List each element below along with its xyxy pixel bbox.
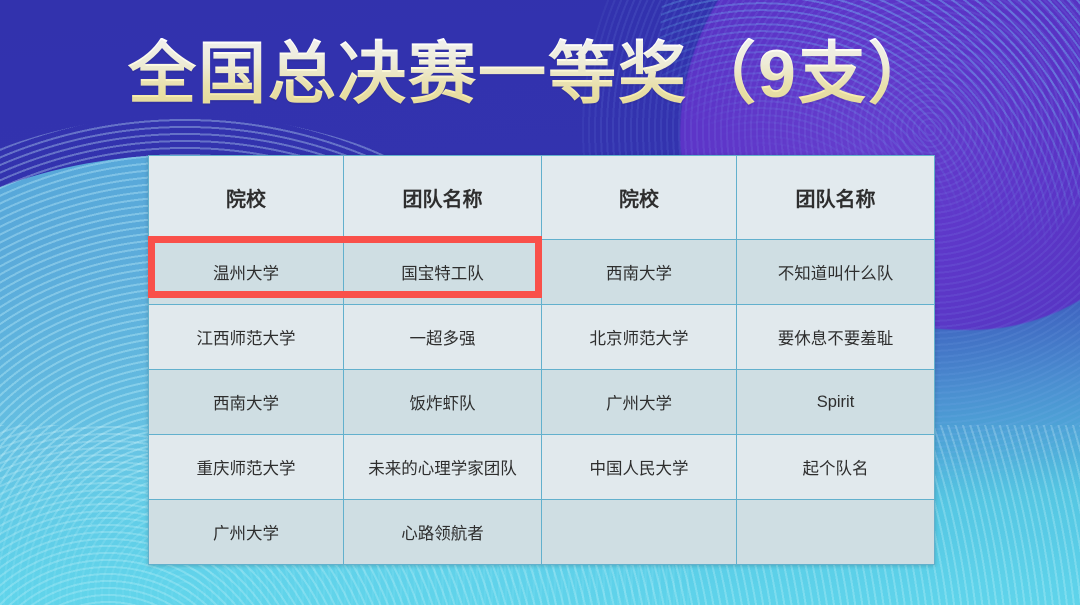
column-header-team-1: 团队名称 [344, 156, 542, 240]
cell-team-2: 不知道叫什么队 [737, 240, 935, 305]
cell-school-1: 西南大学 [149, 370, 344, 435]
cell-team-2: 要休息不要羞耻 [737, 305, 935, 370]
page-title: 全国总决赛一等奖（9支） [128, 38, 938, 111]
cell-school-2: 西南大学 [542, 240, 737, 305]
cell-school-2: 中国人民大学 [542, 435, 737, 500]
cell-school-2: 北京师范大学 [542, 305, 737, 370]
column-header-team-2: 团队名称 [737, 156, 935, 240]
table-row: 温州大学 国宝特工队 西南大学 不知道叫什么队 [149, 240, 935, 305]
table-row: 广州大学 心路领航者 [149, 500, 935, 565]
cell-team-2: 起个队名 [737, 435, 935, 500]
cell-team-2 [737, 500, 935, 565]
slide-canvas: 全国总决赛一等奖（9支） 院校 团队名称 院校 团队名称 温州大学 国宝特工队 … [0, 0, 1080, 605]
cell-school-1: 广州大学 [149, 500, 344, 565]
awards-table: 院校 团队名称 院校 团队名称 温州大学 国宝特工队 西南大学 不知道叫什么队 … [148, 155, 935, 565]
table-row: 重庆师范大学 未来的心理学家团队 中国人民大学 起个队名 [149, 435, 935, 500]
awards-table-container: 院校 团队名称 院校 团队名称 温州大学 国宝特工队 西南大学 不知道叫什么队 … [148, 155, 934, 565]
table-row: 西南大学 饭炸虾队 广州大学 Spirit [149, 370, 935, 435]
cell-school-1: 重庆师范大学 [149, 435, 344, 500]
cell-team-1: 一超多强 [344, 305, 542, 370]
cell-team-1: 心路领航者 [344, 500, 542, 565]
table-row: 江西师范大学 一超多强 北京师范大学 要休息不要羞耻 [149, 305, 935, 370]
cell-team-1: 未来的心理学家团队 [344, 435, 542, 500]
cell-school-1: 江西师范大学 [149, 305, 344, 370]
column-header-school-1: 院校 [149, 156, 344, 240]
cell-team-1: 国宝特工队 [344, 240, 542, 305]
cell-school-1: 温州大学 [149, 240, 344, 305]
cell-team-2: Spirit [737, 370, 935, 435]
cell-school-2 [542, 500, 737, 565]
table-header-row: 院校 团队名称 院校 团队名称 [149, 156, 935, 240]
cell-team-1: 饭炸虾队 [344, 370, 542, 435]
column-header-school-2: 院校 [542, 156, 737, 240]
cell-school-2: 广州大学 [542, 370, 737, 435]
